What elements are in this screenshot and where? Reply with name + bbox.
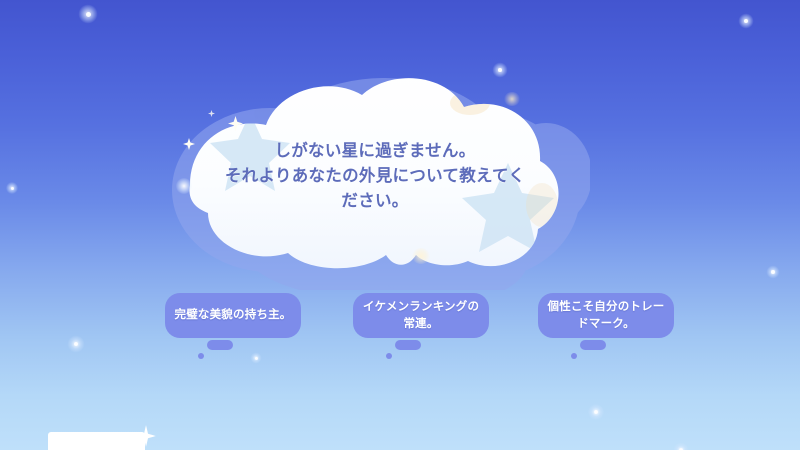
star-icon (74, 342, 78, 346)
option-bubble-tail-large (580, 340, 606, 350)
game-scene: しがない星に過ぎません。 それよりあなたの外見について教えてく ださい。 完璧な… (0, 0, 800, 450)
option-button-2-label: イケメンランキングの常連。 (353, 293, 489, 338)
bottom-left-card[interactable] (48, 432, 145, 450)
option-button-3-label: 個性こそ自分のトレードマーク。 (538, 293, 674, 338)
cloud-speech-bubble: しがない星に過ぎません。 それよりあなたの外見について教えてく ださい。 (150, 55, 590, 290)
option-button-1-label: 完璧な美貌の持ち主。 (165, 293, 301, 338)
option-bubble-tail-small (386, 353, 392, 359)
star-icon (771, 270, 774, 273)
star-icon (11, 187, 14, 190)
option-bubble-tail-large (395, 340, 421, 350)
dialog-text: しがない星に過ぎません。 それよりあなたの外見について教えてく ださい。 (210, 139, 540, 214)
option-bubble-tail-small (198, 353, 204, 359)
star-icon (86, 12, 91, 17)
option-bubble-tail-large (207, 340, 233, 350)
star-icon (744, 19, 748, 23)
option-bubble-tail-small (571, 353, 577, 359)
star-icon (594, 410, 598, 414)
star-icon (255, 357, 258, 360)
